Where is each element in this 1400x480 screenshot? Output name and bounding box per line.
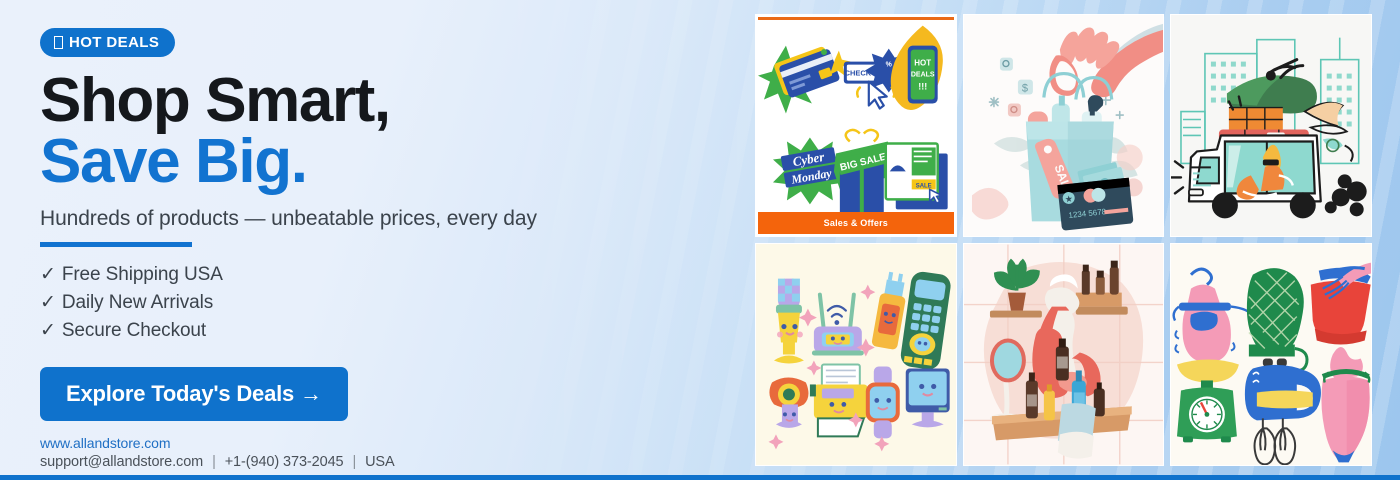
contact-info: www.allandstore.com support@allandstore.… bbox=[40, 435, 700, 470]
gallery-tile-self-care[interactable] bbox=[963, 243, 1165, 466]
contact-details-line: support@allandstore.com | +1-(940) 373-2… bbox=[40, 454, 700, 470]
feature-label: Free Shipping USA bbox=[62, 264, 223, 285]
page-title: Shop Smart, Save Big. bbox=[40, 71, 700, 193]
fire-icon bbox=[54, 36, 63, 49]
check-icon: ✓ bbox=[40, 320, 56, 341]
feature-list: ✓Free Shipping USA ✓Daily New Arrivals ✓… bbox=[40, 261, 700, 345]
svg-text:!!!: !!! bbox=[918, 82, 927, 92]
accent-divider bbox=[40, 242, 192, 247]
gallery-tile-shopping-bag[interactable]: $ bbox=[963, 14, 1165, 237]
electronics-illustration bbox=[756, 244, 956, 465]
svg-text:★: ★ bbox=[1064, 194, 1073, 205]
promo-banner: HOT DEALS Shop Smart, Save Big. Hundreds… bbox=[0, 0, 1400, 480]
feature-label: Secure Checkout bbox=[62, 320, 206, 341]
phone-text: +1-(940) 373-2045 bbox=[225, 454, 344, 470]
email-text: support@allandstore.com bbox=[40, 454, 203, 470]
svg-text:%: % bbox=[886, 62, 893, 69]
svg-text:$: $ bbox=[1022, 83, 1028, 95]
hot-deals-badge-label: HOT DEALS bbox=[69, 35, 159, 50]
svg-text:HOT: HOT bbox=[914, 59, 931, 68]
product-image-grid: CHECK OUT % HOT bbox=[755, 14, 1372, 466]
headline-line-2: Save Big. bbox=[40, 132, 700, 193]
list-item: ✓Secure Checkout bbox=[40, 317, 700, 345]
headline-line-1: Shop Smart, bbox=[40, 66, 390, 135]
country-text: USA bbox=[365, 454, 395, 470]
gallery-tile-kitchen-tools[interactable] bbox=[1170, 243, 1372, 466]
explore-deals-button[interactable]: Explore Today's Deals → bbox=[40, 367, 348, 421]
hero-copy-column: HOT DEALS Shop Smart, Save Big. Hundreds… bbox=[40, 28, 700, 470]
sales-offers-illustration: CHECK OUT % HOT bbox=[756, 15, 956, 236]
tile-caption: Sales & Offers bbox=[758, 212, 954, 234]
list-item: ✓Free Shipping USA bbox=[40, 261, 700, 289]
subheadline: Hundreds of products — unbeatable prices… bbox=[40, 207, 700, 231]
svg-text:DEALS: DEALS bbox=[911, 72, 935, 79]
hot-deals-badge: HOT DEALS bbox=[40, 28, 175, 57]
separator: | bbox=[212, 454, 216, 470]
check-icon: ✓ bbox=[40, 292, 56, 313]
gallery-tile-delivery-truck[interactable] bbox=[1170, 14, 1372, 237]
kitchen-tools-illustration bbox=[1171, 244, 1371, 465]
list-item: ✓Daily New Arrivals bbox=[40, 289, 700, 317]
delivery-truck-illustration bbox=[1171, 15, 1371, 236]
check-icon: ✓ bbox=[40, 264, 56, 285]
self-care-illustration bbox=[964, 244, 1164, 465]
website-link[interactable]: www.allandstore.com bbox=[40, 435, 700, 451]
gallery-tile-electronics[interactable] bbox=[755, 243, 957, 466]
gallery-tile-sales-offers[interactable]: CHECK OUT % HOT bbox=[755, 14, 957, 237]
separator: | bbox=[352, 454, 356, 470]
shopping-bag-illustration: $ bbox=[964, 15, 1164, 236]
feature-label: Daily New Arrivals bbox=[62, 292, 213, 313]
